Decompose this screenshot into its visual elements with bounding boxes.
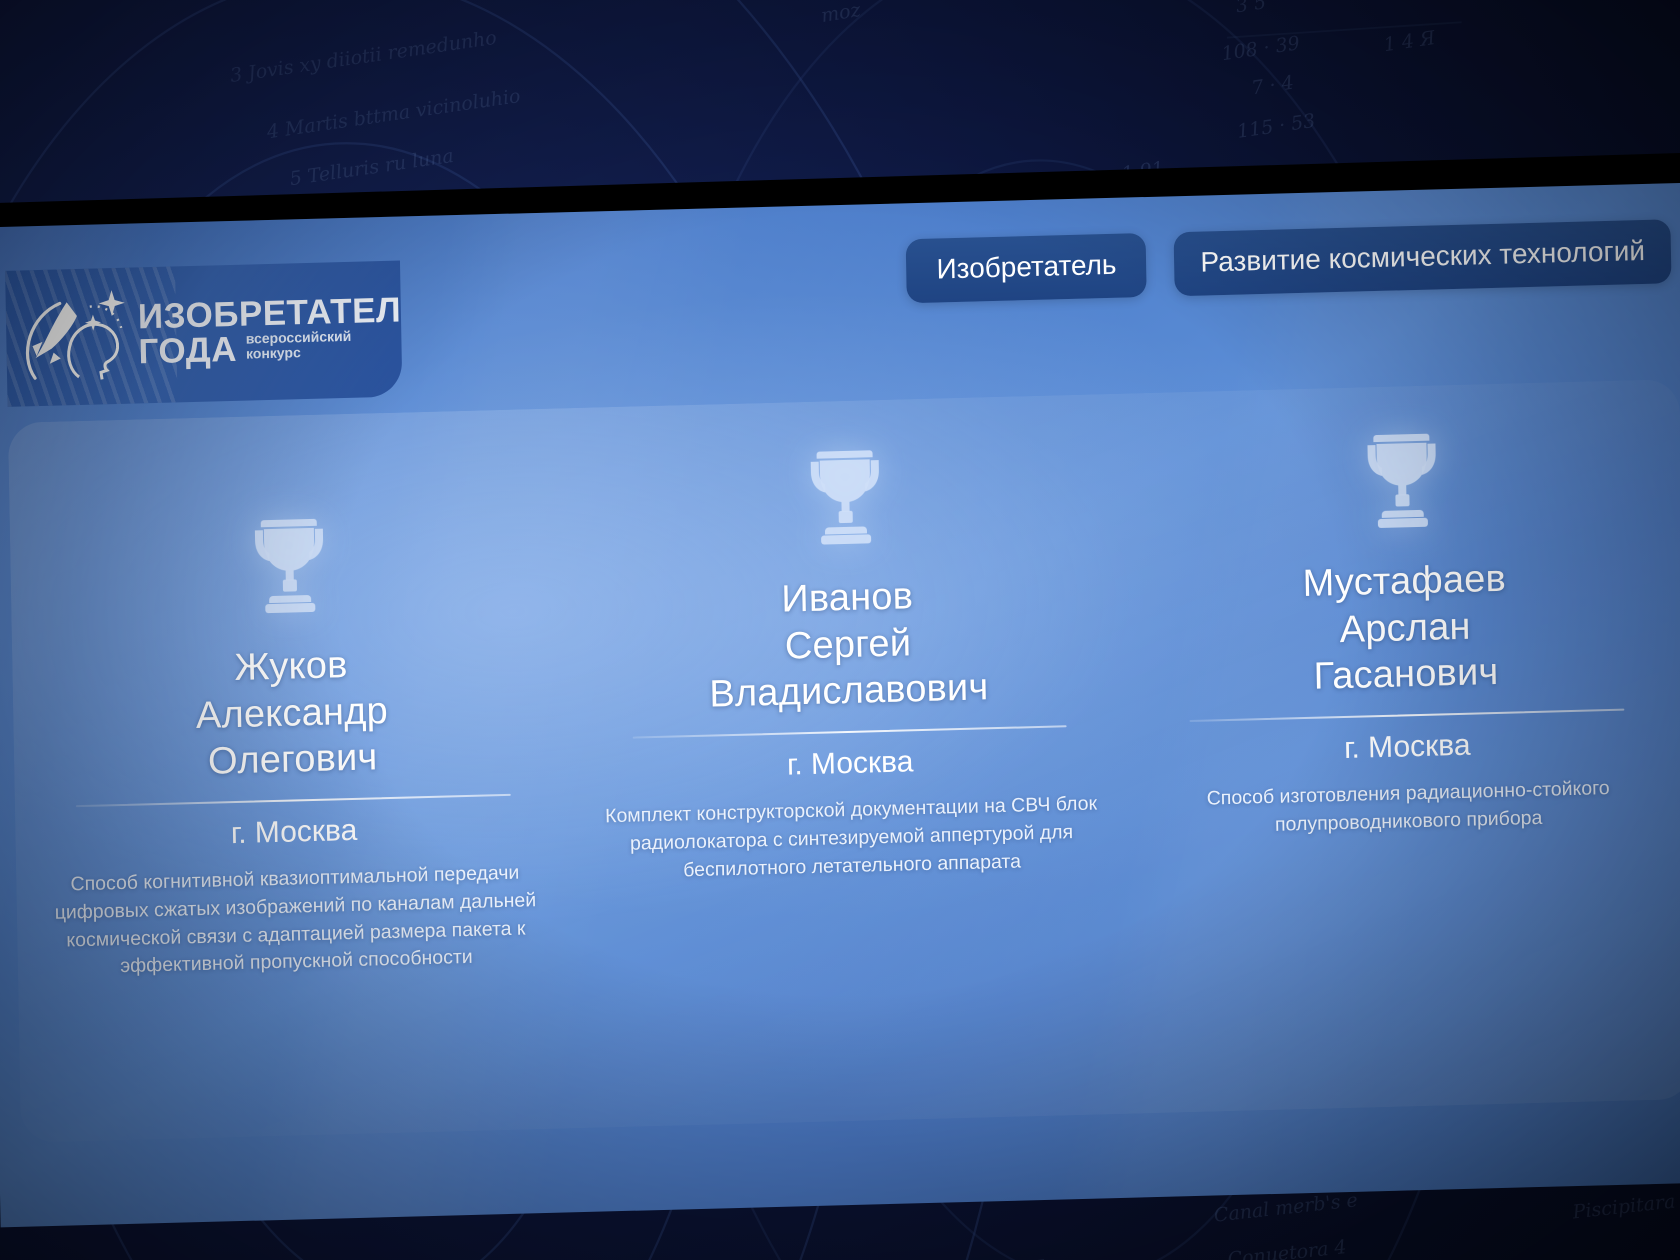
- projection-screen: ИЗОБРЕТАТЕЛЬ ГОДА всероссийский конкурс …: [0, 183, 1680, 1228]
- winner-name: Иванов Сергей Владиславович: [594, 568, 1102, 721]
- logo-subtitle: всероссийский конкурс: [246, 329, 352, 367]
- trophy-icon: [1364, 427, 1440, 533]
- badge-category[interactable]: Развитие космических технологий: [1174, 219, 1672, 296]
- winner-city: г. Москва: [41, 809, 547, 856]
- trophy-icon: [251, 513, 327, 619]
- trophy-icon: [807, 444, 883, 550]
- rocket-icon: [32, 302, 78, 364]
- winner-name: Жуков Александр Олегович: [38, 637, 546, 790]
- logo-subtitle-line2: конкурс: [246, 344, 352, 362]
- logo-mark-graphic: [19, 284, 127, 391]
- logo-title-line1: ИЗОБРЕТАТЕЛЬ: [138, 294, 403, 334]
- contest-logo: ИЗОБРЕТАТЕЛЬ ГОДА всероссийский конкурс: [5, 261, 402, 407]
- winner-column: Жуков Александр Олегович г. Москва Спосо…: [8, 408, 578, 1142]
- svg-text:115 · 53: 115 · 53: [1236, 110, 1317, 143]
- svg-text:3 5: 3 5: [1234, 0, 1267, 18]
- svg-text:7 · 4: 7 · 4: [1250, 72, 1295, 100]
- slide-surface: ИЗОБРЕТАТЕЛЬ ГОДА всероссийский конкурс …: [0, 183, 1680, 1228]
- divider: [76, 794, 510, 807]
- winner-invention-description: Способ изготовления радиационно-стойкого…: [1155, 774, 1661, 843]
- winner-name: Мустафаев Арслан Гасанович: [1151, 552, 1659, 705]
- winner-city: г. Москва: [597, 741, 1103, 788]
- svg-text:1 4 Я: 1 4 Я: [1382, 27, 1437, 56]
- winners-panel: Жуков Александр Олегович г. Москва Спосо…: [8, 379, 1680, 1143]
- presentation-photo: 2. Saturnus bttma vicinalunho 3 Jovis xy…: [0, 0, 1680, 1260]
- divider: [1190, 709, 1624, 722]
- svg-text:4 Martis bttma vicinoluhio: 4 Martis bttma vicinoluhio: [264, 85, 521, 143]
- winner-invention-description: Комплект конструкторской документации на…: [598, 791, 1105, 887]
- divider: [632, 725, 1066, 738]
- svg-text:5 Telluris ru luna: 5 Telluris ru luna: [288, 145, 455, 190]
- svg-text:Conuetora 4: Conuetora 4: [1226, 1236, 1347, 1260]
- logo-title-line2: ГОДА: [138, 334, 237, 369]
- badge-nomination[interactable]: Изобретатель: [906, 233, 1147, 303]
- category-badges: Изобретатель Развитие космических технол…: [906, 219, 1672, 303]
- svg-text:108 · 39: 108 · 39: [1220, 33, 1301, 66]
- winner-invention-description: Способ когнитивной квазиоптимальной пере…: [42, 859, 549, 983]
- winner-column: Иванов Сергей Владиславович г. Москва Ко…: [565, 394, 1135, 1128]
- winner-city: г. Москва: [1154, 724, 1660, 771]
- winner-column: Мустафаев Арслан Гасанович г. Москва Спо…: [1122, 379, 1680, 1113]
- svg-text:Canal merb's e: Canal merb's e: [1213, 1190, 1359, 1227]
- svg-text:АГТУЗН ЗЕМЛЯ: АГТУЗН ЗЕМЛЯ: [878, 1256, 1046, 1260]
- svg-text:3 Jovis xy diiotii remedunho: 3 Jovis xy diiotii remedunho: [228, 27, 497, 87]
- svg-text:Piscipitara: Piscipitara: [1570, 1191, 1676, 1224]
- svg-text:moz: moz: [819, 0, 862, 27]
